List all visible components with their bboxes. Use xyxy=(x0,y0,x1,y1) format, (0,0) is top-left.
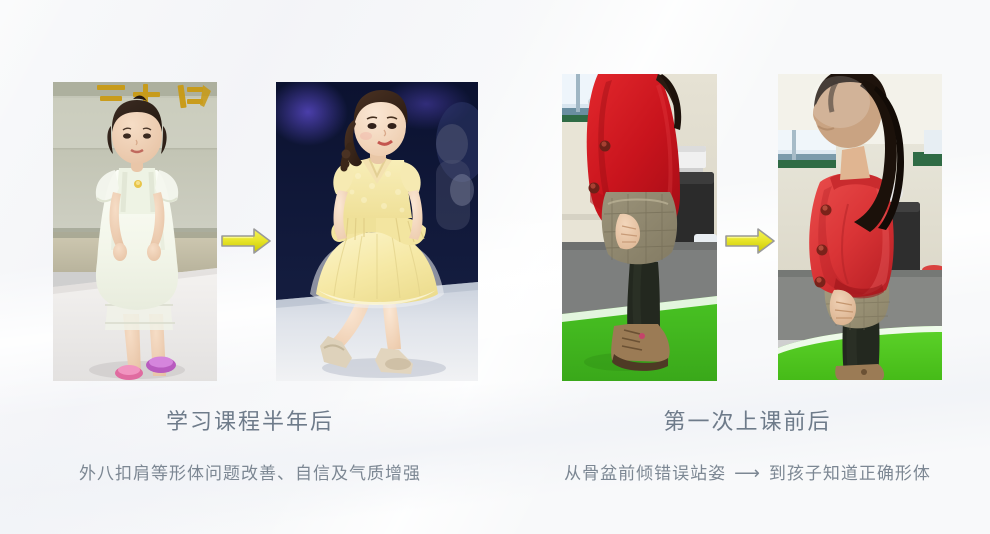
right-arrow-icon xyxy=(724,226,776,256)
caption-subtitle-right-after: 到孩子知道正确形体 xyxy=(769,464,931,484)
photo-after-left xyxy=(276,82,478,381)
caption-subtitle-right-before: 从骨盆前倾错误站姿 xyxy=(564,464,726,484)
caption-subtitle-left: 外八扣肩等形体问题改善、自信及气质增强 xyxy=(0,459,500,484)
caption-group-right: 第一次上课前后 从骨盆前倾错误站姿⟶到孩子知道正确形体 xyxy=(505,404,990,484)
caption-title-right: 第一次上课前后 xyxy=(505,404,990,436)
right-arrow-icon xyxy=(220,226,272,256)
caption-group-left: 学习课程半年后 外八扣肩等形体问题改善、自信及气质增强 xyxy=(0,404,500,484)
caption-subtitle-right: 从骨盆前倾错误站姿⟶到孩子知道正确形体 xyxy=(505,459,990,484)
photo-before-left xyxy=(53,82,217,381)
photo-after-right xyxy=(778,74,942,380)
caption-subtitle-arrow-icon: ⟶ xyxy=(726,463,769,484)
photo-before-right xyxy=(562,74,717,381)
caption-title-left: 学习课程半年后 xyxy=(0,404,500,436)
